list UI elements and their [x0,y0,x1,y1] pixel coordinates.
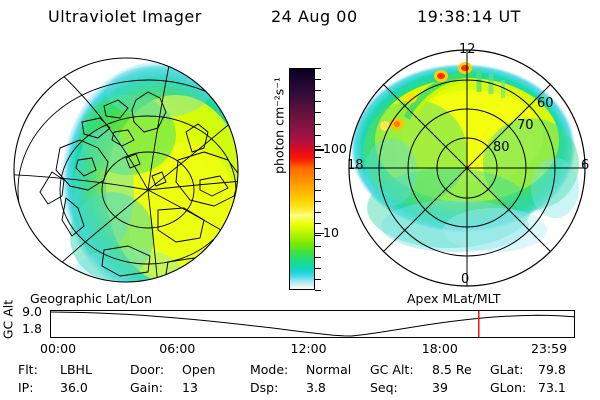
colorbar-minor-tick [315,279,321,280]
status-key-door: Door: [130,362,164,377]
status-key-mode: Mode: [250,362,288,377]
status-value-flt: LBHL [60,362,92,377]
colorbar-tick-label-10: 10 [323,225,339,240]
time-tick-0000: 00:00 [40,341,76,356]
status-value-glat: 79.8 [538,362,566,377]
status-value-dsp: 3.8 [306,380,326,395]
time-tick-0600: 06:00 [159,341,195,356]
y-tick-low: 1.8 [8,321,42,336]
colorbar-minor-tick [315,124,321,125]
status-panel: Flt:LBHLDoor:OpenMode:NormalGC Alt:8.5 R… [0,362,600,400]
terminator-trace [204,276,230,294]
geographic-image-panel[interactable] [8,40,253,295]
colorbar-minor-tick [315,201,321,202]
colorbar-axis-label: photon cm⁻²s⁻¹ [272,61,287,191]
mlt-label-6: 6 [581,158,589,173]
colorbar-minor-tick [315,90,321,91]
status-value-mode: Normal [306,362,351,377]
polar-image-panel[interactable]: 12 6 0 18 60 70 80 [345,40,595,295]
colorbar-gradient [290,69,314,289]
mlt-label-0: 0 [461,272,469,287]
y-tick-high: 9.0 [8,304,42,319]
status-value-ip: 36.0 [60,380,88,395]
status-value-glon: 73.1 [538,380,566,395]
colorbar-box [289,68,315,290]
header-bar: Ultraviolet Imager 24 Aug 00 19:38:14 UT [0,4,600,32]
time-tick-1200: 12:00 [291,341,327,356]
colorbar-minor-tick [315,179,321,180]
mlat-label-70: 70 [517,118,534,133]
altitude-strip-panel[interactable]: GC Alt 9.0 1.8 00:0006:0012:0018:0023:59 [0,300,600,360]
status-key-gcalt: GC Alt: [370,362,414,377]
colorbar-minor-tick [315,257,321,258]
status-key-ip: IP: [18,380,33,395]
mlat-label-80: 80 [493,140,510,155]
colorbar-minor-tick [315,246,321,247]
polar-projection [345,40,595,295]
mlt-spokes [349,50,585,286]
mlat-label-60: 60 [537,96,554,111]
status-value-seq: 39 [432,380,448,395]
colorbar-minor-tick [315,112,321,113]
colorbar-minor-tick [315,212,321,213]
colorbar-minor-tick [315,146,321,147]
colorbar-panel: photon cm⁻²s⁻¹ 10010 [258,40,343,298]
status-value-gain: 13 [182,380,198,395]
colorbar-tick-label-100: 100 [323,141,347,156]
mlt-label-18: 18 [347,158,364,173]
colorbar-minor-tick [315,135,321,136]
altitude-track [51,311,574,337]
altitude-plot-box[interactable] [50,310,575,338]
colorbar-minor-tick [315,268,321,269]
colorbar-minor-tick [315,235,321,236]
status-key-dsp: Dsp: [250,380,278,395]
geographic-projection [8,40,253,295]
gc-alt-axis-label: GC Alt [1,290,16,350]
colorbar-minor-tick [315,101,321,102]
status-key-glon: GLon: [490,380,526,395]
status-key-seq: Seq: [370,380,398,395]
status-row-2: IP:36.0Gain:13Dsp:3.8Seq:39GLon:73.1 [0,380,600,398]
time-tick-1800: 18:00 [422,341,458,356]
status-key-glat: GLat: [490,362,523,377]
colorbar-minor-tick [315,190,321,191]
colorbar-minor-tick [315,290,321,291]
status-row-1: Flt:LBHLDoor:OpenMode:NormalGC Alt:8.5 R… [0,362,600,380]
time-tick-2359: 23:59 [531,341,567,356]
status-value-door: Open [182,362,215,377]
status-key-flt: Flt: [18,362,38,377]
observation-time: 19:38:14 UT [417,7,521,26]
colorbar-minor-tick [315,68,321,69]
colorbar-minor-tick [315,223,321,224]
instrument-title: Ultraviolet Imager [48,7,202,26]
status-key-gain: Gain: [130,380,163,395]
colorbar-minor-tick [315,168,321,169]
observation-date: 24 Aug 00 [271,7,358,26]
colorbar-minor-tick [315,79,321,80]
colorbar-minor-tick [315,157,321,158]
mlt-label-12: 12 [459,42,476,57]
status-value-gcalt: 8.5 Re [432,362,472,377]
